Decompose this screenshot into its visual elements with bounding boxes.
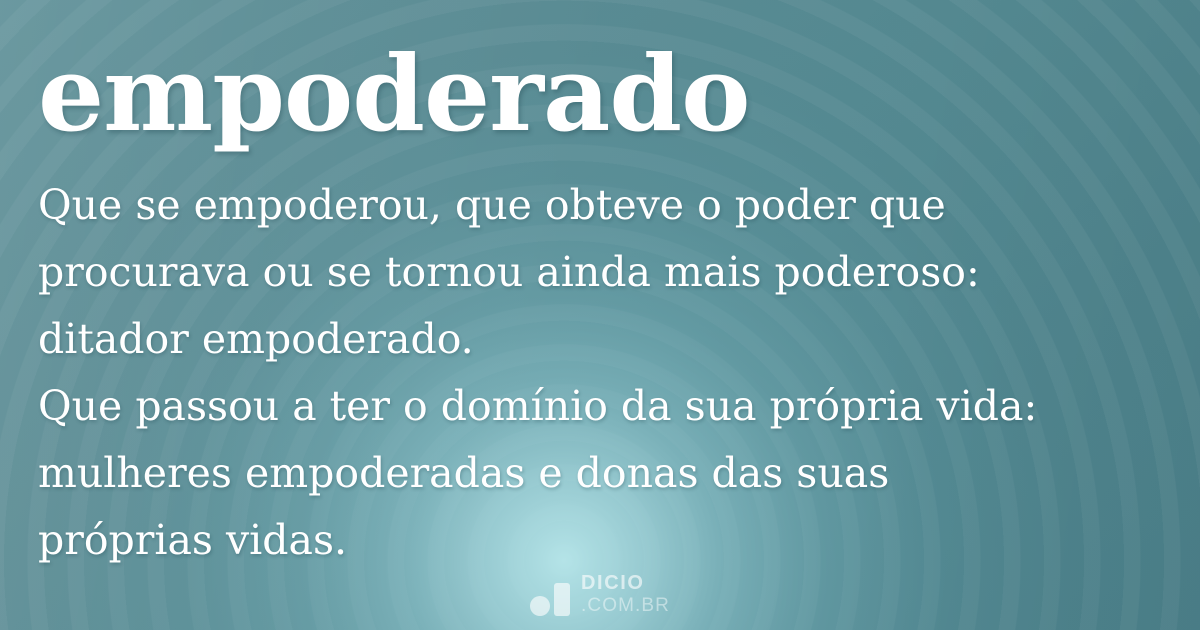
definition-line: ditador empoderado. (38, 306, 1170, 373)
definition-block: Que se empoderou, que obteve o poder que… (38, 172, 1170, 574)
definition-line: procurava ou se tornou ainda mais podero… (38, 239, 1170, 306)
logo-wordmark: DICIO .COM.BR (581, 573, 670, 616)
headword: empoderado (38, 38, 749, 150)
logo-circle-icon (530, 596, 550, 616)
definition-line: mulheres empoderadas e donas das suas (38, 440, 1170, 507)
card-content: empoderado Que se empoderou, que obteve … (0, 0, 1200, 630)
definition-line: Que passou a ter o domínio da sua própri… (38, 373, 1170, 440)
dicio-logo: DICIO .COM.BR (0, 573, 1200, 616)
logo-name: DICIO (581, 573, 670, 593)
definition-line: Que se empoderou, que obteve o poder que (38, 172, 1170, 239)
definition-line: próprias vidas. (38, 507, 1170, 574)
logo-domain: .COM.BR (581, 596, 670, 615)
logo-bar-icon (554, 583, 570, 616)
logo-mark-icon (530, 583, 570, 616)
dicio-definition-card: empoderado Que se empoderou, que obteve … (0, 0, 1200, 630)
